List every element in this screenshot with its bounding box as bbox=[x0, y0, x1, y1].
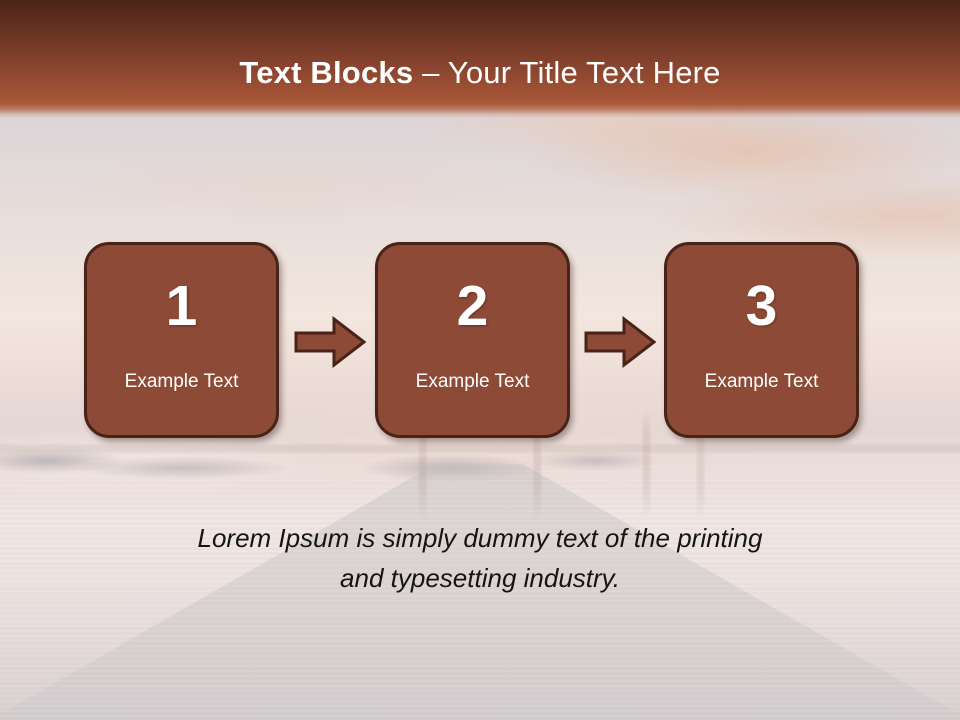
flow-box-1-number: 1 bbox=[87, 275, 276, 337]
caption-line-2: and typesetting industry. bbox=[100, 558, 860, 598]
header-band: Text Blocks – Your Title Text Here bbox=[0, 0, 960, 118]
flow-box-3[interactable]: 3 Example Text bbox=[664, 242, 859, 438]
flow-box-1[interactable]: 1 Example Text bbox=[84, 242, 279, 438]
flow-box-1-label: Example Text bbox=[87, 370, 276, 394]
slide-canvas: Text Blocks – Your Title Text Here 1 Exa… bbox=[0, 0, 960, 720]
caption-text: Lorem Ipsum is simply dummy text of the … bbox=[100, 518, 860, 598]
flow-box-3-number: 3 bbox=[667, 275, 856, 337]
page-title-light: Your Title Text Here bbox=[448, 55, 721, 90]
page-title: Text Blocks – Your Title Text Here bbox=[0, 55, 960, 91]
flow-box-3-label: Example Text bbox=[667, 370, 856, 394]
page-title-strong: Text Blocks bbox=[239, 55, 413, 90]
arrow-right-icon bbox=[294, 316, 366, 368]
flow-box-2[interactable]: 2 Example Text bbox=[375, 242, 570, 438]
page-title-separator: – bbox=[413, 55, 448, 90]
flow-box-2-number: 2 bbox=[378, 275, 567, 337]
caption-line-1: Lorem Ipsum is simply dummy text of the … bbox=[100, 518, 860, 558]
arrow-right-icon bbox=[584, 316, 656, 368]
flow-box-2-label: Example Text bbox=[378, 370, 567, 394]
